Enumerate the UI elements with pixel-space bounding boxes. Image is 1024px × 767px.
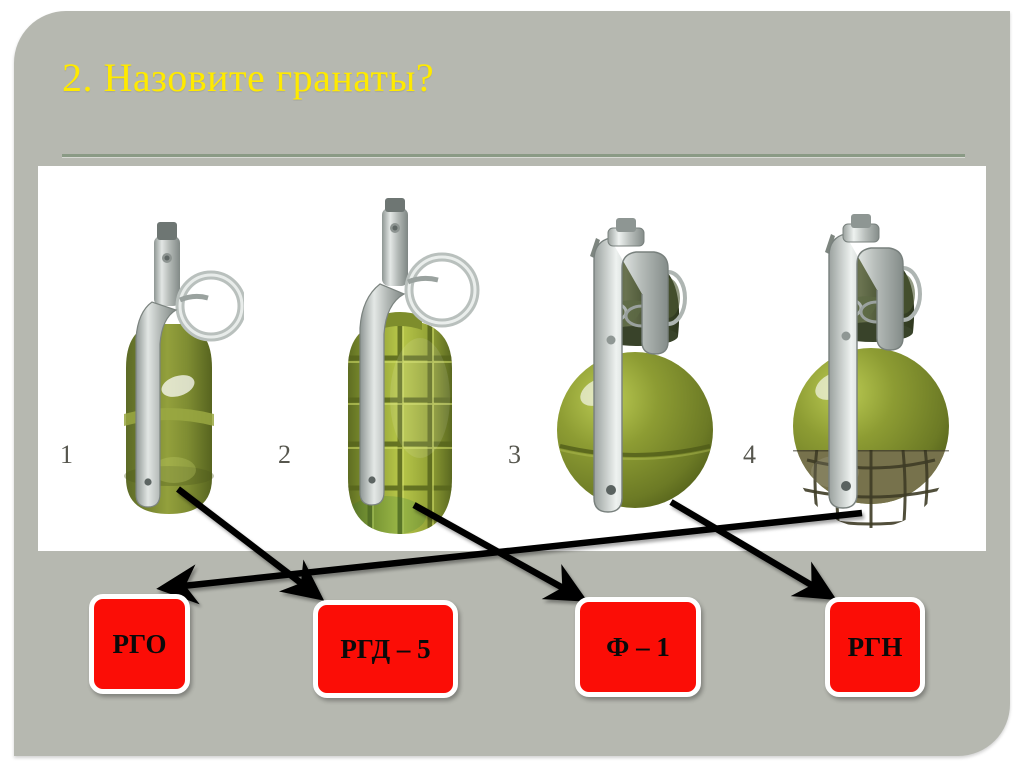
grenade-number-3: 3 [508, 442, 521, 468]
page-title: 2. Назовите гранаты? [62, 50, 962, 110]
grenade-f1-icon [320, 198, 480, 548]
answer-box-rgn[interactable]: РГН [825, 597, 925, 697]
slide: 2. Назовите гранаты? 1 [0, 0, 1024, 767]
answer-box-rgd5[interactable]: РГД – 5 [313, 600, 458, 698]
answer-box-rgo[interactable]: РГО [89, 594, 190, 694]
picture-panel: 1 [38, 166, 986, 551]
grenade-number-1: 1 [60, 442, 73, 468]
grenade-rgo-icon [783, 210, 958, 548]
grenade-rgd5-icon [94, 218, 244, 548]
title-divider [62, 154, 965, 157]
grenade-rgn-icon [550, 214, 720, 548]
answer-box-f1[interactable]: Ф – 1 [575, 597, 701, 697]
grenade-number-2: 2 [278, 442, 291, 468]
grenade-number-4: 4 [743, 442, 756, 468]
